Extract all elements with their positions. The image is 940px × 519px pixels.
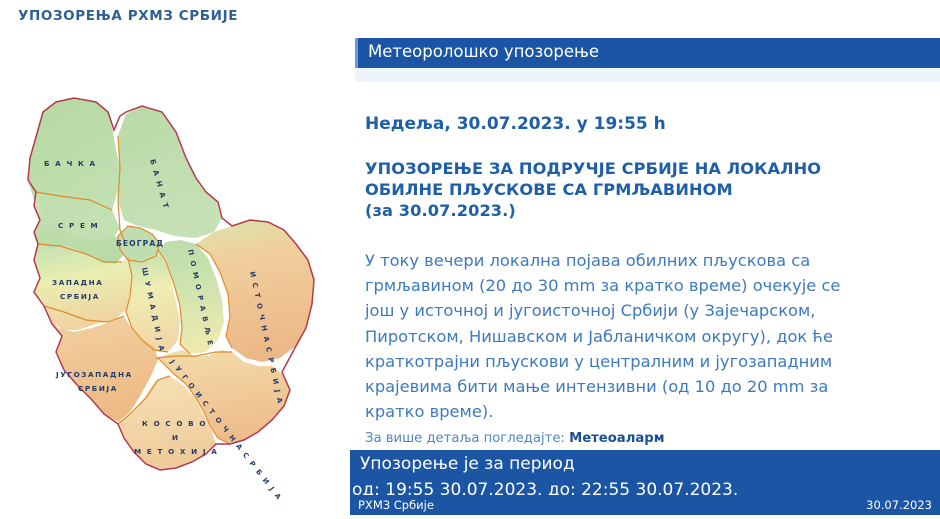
warning-page: УПОЗОРЕЊА РХМЗ СРБИЈЕ <box>0 0 940 519</box>
warning-period-title: Упозорење је за период <box>360 454 575 474</box>
region-banat <box>118 106 222 238</box>
meteoalarm-link[interactable]: Метеоаларм <box>569 431 664 446</box>
warning-body-line-7: кратко време). <box>365 399 935 424</box>
panel-header-bar: Метеоролошко упозорење <box>355 38 940 68</box>
footer-date: 30.07.2023 <box>866 498 932 512</box>
map-label-srem: С Р Е М <box>58 221 99 230</box>
warning-headline-line-1: УПОЗОРЕЊЕ ЗА ПОДРУЧЈЕ СРБИЈЕ НА ЛОКАЛНО <box>365 158 925 179</box>
map-label-backa: Б А Ч К А <box>44 159 97 168</box>
warning-body-text: У току вечери локална појава обилних пљу… <box>365 248 935 424</box>
map-label-metohija: М Е Т О Х И Ј А <box>134 447 218 456</box>
map-label-zapadna-srbija: ЗАПАДНА <box>52 278 103 287</box>
warning-body-line-4: Пиротском, Нишавском и Јабланичком округ… <box>365 324 935 349</box>
panel-top-tint-strip <box>355 68 940 82</box>
page-title: УПОЗОРЕЊА РХМЗ СРБИЈЕ <box>18 8 238 24</box>
map-label-jugozapadna-srbija: ЈУГОЗАПАДНА <box>55 370 133 379</box>
map-label-zapadna-srbija-2: СРБИЈА <box>60 292 100 301</box>
more-details-prefix: За више детаља погледајте: <box>365 431 569 446</box>
warning-headline: УПОЗОРЕЊЕ ЗА ПОДРУЧЈЕ СРБИЈЕ НА ЛОКАЛНО … <box>365 158 925 221</box>
warning-body-line-3: још у источној и југоисточној Србији (у … <box>365 298 935 323</box>
map-label-kosovo-i: И <box>172 433 180 442</box>
serbia-map-svg: Б А Ч К А Б А Н А Т С Р Е М БЕОГРАД ЗАПА… <box>0 40 345 510</box>
warning-headline-line-2: ОБИЛНЕ ПЉУСКОВЕ СА ГРМЉАВИНОМ <box>365 179 925 200</box>
more-details-line: За више детаља погледајте: Метеоаларм <box>365 431 664 446</box>
panel-body: Недеља, 30.07.2023. у 19:55 h УПОЗОРЕЊЕ … <box>355 68 940 438</box>
warning-body-line-5: краткотрајни пљускови у централним и југ… <box>365 349 935 374</box>
serbia-map: Б А Ч К А Б А Н А Т С Р Е М БЕОГРАД ЗАПА… <box>0 40 345 510</box>
warning-headline-line-3: (за 30.07.2023.) <box>365 200 925 221</box>
panel-footer-bar: РХМЗ Србије 30.07.2023 <box>350 495 940 515</box>
panel-header-title: Метеоролошко упозорење <box>368 42 599 61</box>
warning-body-line-1: У току вечери локална појава обилних пљу… <box>365 248 935 273</box>
map-label-kosovo: К О С О В О <box>142 419 207 428</box>
warning-datetime: Недеља, 30.07.2023. у 19:55 h <box>365 114 666 134</box>
map-label-jugozapadna-srbija-2: СРБИЈА <box>78 384 118 393</box>
warning-panel: Метеоролошко упозорење Недеља, 30.07.202… <box>350 38 940 519</box>
warning-body-line-6: крајевима бити мање интензивни (од 10 до… <box>365 374 935 399</box>
map-label-beograd: БЕОГРАД <box>116 239 164 248</box>
footer-source: РХМЗ Србије <box>358 498 434 512</box>
warning-body-line-2: грмљавином (20 до 30 mm за кратко време)… <box>365 273 935 298</box>
